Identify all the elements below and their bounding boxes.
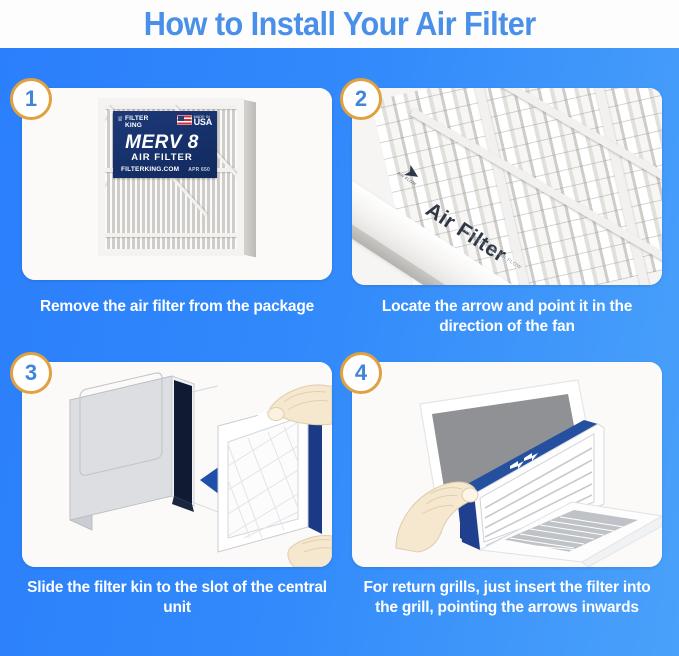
made-in-usa-badge: MADE IN USA <box>177 115 212 125</box>
merv8-filter-photo: ♕ FILTER KING MADE IN USA MERV <box>94 92 262 262</box>
filter-corner-closeup: ➤ AIR FLOW Air Filter DIRECTION OF AIR F… <box>352 88 662 285</box>
country-label: USA <box>194 120 212 125</box>
slide-filter-illustration <box>22 362 332 567</box>
replacement-filter <box>218 402 322 552</box>
apr-rating-text: APR 650 <box>188 167 210 173</box>
filter-front-face: ♕ FILTER KING MADE IN USA MERV <box>98 98 244 256</box>
filter-support-wire <box>105 233 237 237</box>
step-badge-2: 2 <box>340 78 382 120</box>
step-card-3: 3 <box>22 362 332 567</box>
step-caption-2: Locate the arrow and point it in the dir… <box>352 297 662 337</box>
step-card-1: ♕ FILTER KING MADE IN USA MERV <box>22 88 332 280</box>
website-text: FILTERKING.COM <box>121 166 179 173</box>
filter-product-label: ♕ FILTER KING MADE IN USA MERV <box>113 111 217 178</box>
crown-icon: ♕ <box>117 116 125 124</box>
hand-top <box>268 385 332 425</box>
brand-line-1: FILTER <box>125 115 148 122</box>
step-card-4: 4 <box>352 362 662 567</box>
step-number-2: 2 <box>355 86 367 112</box>
step-number-1: 1 <box>25 86 37 112</box>
step-number-3: 3 <box>25 360 37 386</box>
step-caption-4: For return grills, just insert the filte… <box>352 578 662 618</box>
step-badge-1: 1 <box>10 78 52 120</box>
step-card-3-media <box>22 362 332 567</box>
page-title: How to Install Your Air Filter <box>144 5 536 43</box>
title-band: How to Install Your Air Filter <box>0 0 679 48</box>
step-number-4: 4 <box>355 360 367 386</box>
merv-rating-text: MERV 8 <box>113 132 211 154</box>
return-grille-illustration <box>352 362 662 567</box>
step-caption-1: Remove the air filter from the package <box>22 297 332 317</box>
step-badge-3: 3 <box>10 352 52 394</box>
air-filter-text: AIR FILTER <box>113 152 211 163</box>
step-card-1-media: ♕ FILTER KING MADE IN USA MERV <box>22 88 332 280</box>
step-caption-3: Slide the filter kin to the slot of the … <box>22 578 332 618</box>
usa-flag-icon <box>177 115 192 125</box>
hand-bottom <box>288 536 332 568</box>
central-unit <box>70 372 194 530</box>
step-card-4-media <box>352 362 662 567</box>
brand-line-2: KING <box>125 122 142 129</box>
infographic-page: How to Install Your Air Filter <box>0 0 679 656</box>
step-card-2: ➤ AIR FLOW Air Filter DIRECTION OF AIR F… <box>352 88 662 285</box>
step-badge-4: 4 <box>340 352 382 394</box>
step-card-2-media: ➤ AIR FLOW Air Filter DIRECTION OF AIR F… <box>352 88 662 285</box>
filter-king-logo: FILTER KING <box>125 115 148 129</box>
filter-support-wire <box>237 103 244 216</box>
made-in-usa-text: MADE IN USA <box>194 115 212 125</box>
